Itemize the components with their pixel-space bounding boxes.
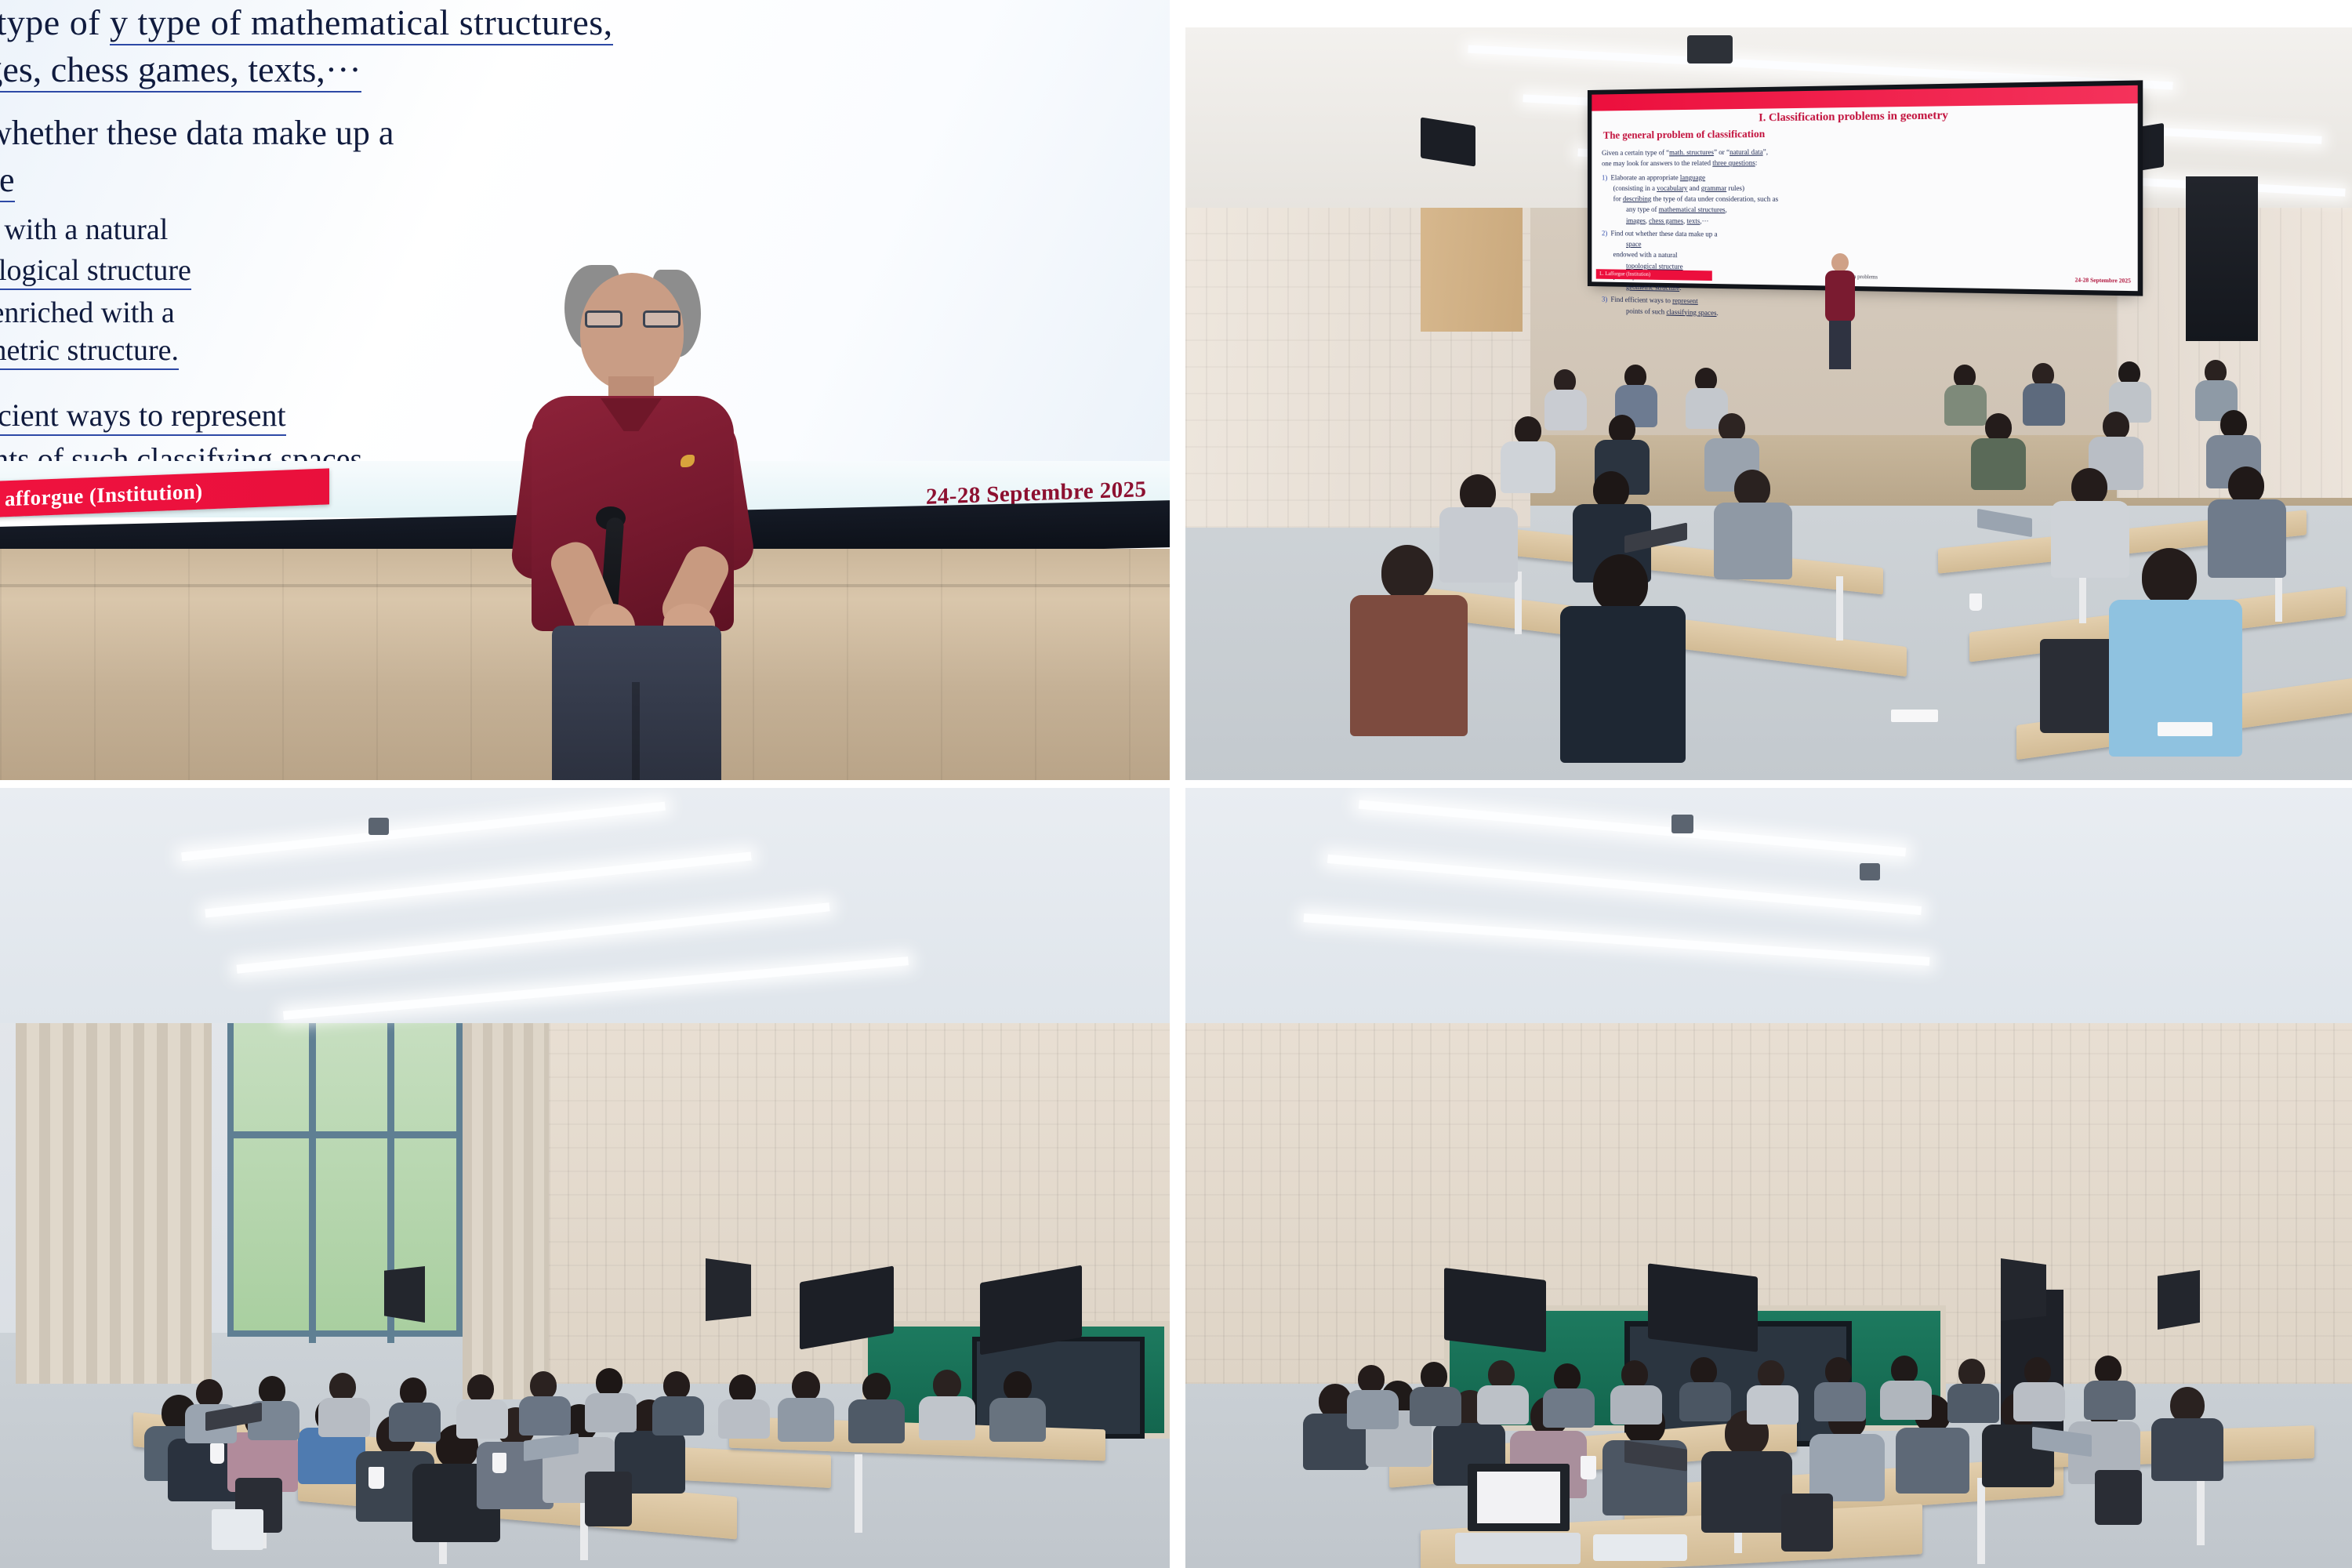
ceiling-light xyxy=(1304,913,1930,966)
sprinkler-icon xyxy=(1860,863,1880,880)
attendee-body xyxy=(989,1398,1046,1442)
ceiling-light xyxy=(237,902,830,973)
attendee-body xyxy=(519,1396,571,1436)
head xyxy=(1831,253,1849,272)
laptop-screen-document xyxy=(1477,1472,1560,1523)
attendee-head xyxy=(1758,1360,1784,1388)
attendee-body xyxy=(1944,385,1987,426)
collage-gutter-horizontal xyxy=(0,780,2352,788)
slide-line-2: ages, chess games, texts,··· xyxy=(0,52,831,88)
attendee-body xyxy=(1714,503,1792,579)
panel-speaker-closeup-with-slide: y type of y type of mathematical structu… xyxy=(0,0,1170,780)
attendee-body xyxy=(1809,1434,1885,1501)
attendee-head xyxy=(1690,1357,1717,1385)
wall-speaker-right xyxy=(2158,1270,2200,1330)
attendee-body xyxy=(652,1396,704,1436)
chair xyxy=(2095,1470,2142,1525)
attendee-head xyxy=(1621,1360,1648,1388)
ceiling xyxy=(0,788,1170,1023)
ceiling-light xyxy=(1327,855,1922,915)
attendee-body xyxy=(778,1398,834,1442)
attendee-head xyxy=(2220,410,2247,438)
attendee-head xyxy=(329,1373,356,1401)
slide-author-banner: L. Lafforgue (Institution) xyxy=(1596,269,1712,281)
attendee-body xyxy=(1544,390,1587,430)
attendee-head xyxy=(196,1379,223,1407)
attendee-head xyxy=(530,1371,557,1399)
cup xyxy=(210,1443,224,1464)
desk-papers xyxy=(1593,1534,1687,1561)
attendee-head xyxy=(2071,468,2107,506)
slide-subtitle: The general problem of classification xyxy=(1603,129,1765,142)
attendee-body xyxy=(2151,1418,2223,1481)
attendee-body xyxy=(585,1393,637,1432)
attendee-body xyxy=(1501,441,1555,493)
torso-polo-shirt xyxy=(1825,270,1855,322)
head xyxy=(580,273,684,390)
window-transom xyxy=(234,1131,469,1138)
attendee-body xyxy=(1701,1451,1792,1533)
attendee-head xyxy=(862,1373,891,1403)
leg-gap xyxy=(632,682,640,780)
attendee-body xyxy=(919,1396,975,1440)
chair xyxy=(1781,1494,1833,1552)
ceiling xyxy=(1185,788,2352,1023)
ceiling-light xyxy=(1359,800,1906,857)
attendee-head xyxy=(2095,1356,2122,1384)
attendee-body xyxy=(318,1398,370,1437)
attendee-body xyxy=(1971,438,2026,490)
attendee-head xyxy=(933,1370,961,1399)
sprinkler-icon xyxy=(1671,815,1693,833)
attendee-body xyxy=(1610,1385,1662,1425)
attendee-head xyxy=(1719,413,1745,441)
attendee-body xyxy=(456,1399,508,1439)
desk-leg xyxy=(1836,576,1843,641)
wall-speaker-left xyxy=(2001,1258,2046,1321)
slide-item-2: 2) Find out whether these data make up a… xyxy=(1602,228,2129,303)
attendee-body xyxy=(1477,1385,1529,1425)
slide-body: Given a certain type of “math. structure… xyxy=(1602,144,2129,328)
attendee-body xyxy=(1560,606,1686,763)
attendee-head xyxy=(1985,413,2012,441)
flat-panel-display-left xyxy=(1421,117,1475,166)
attendee-head xyxy=(467,1374,494,1403)
panel-lecture-hall-from-front-right xyxy=(1185,788,2352,1568)
attendee-body xyxy=(2013,1382,2065,1421)
attendee-head xyxy=(1825,1357,1852,1385)
attendee-body xyxy=(1439,507,1518,583)
attendee-body xyxy=(718,1399,770,1439)
collage-gutter-top xyxy=(1170,0,2352,27)
attendee-body xyxy=(1947,1384,1999,1423)
paper-sheet xyxy=(2158,722,2212,736)
attendee-head xyxy=(1609,415,1635,443)
attendee-head xyxy=(1593,471,1629,509)
desk-leg xyxy=(1977,1478,1985,1564)
slide-line-1: y type of y type of mathematical structu… xyxy=(0,5,831,41)
paper-sheet xyxy=(1891,710,1938,722)
tote-bag xyxy=(212,1509,263,1550)
attendee-head xyxy=(1421,1362,1447,1390)
slide-line-4: ace xyxy=(0,163,831,198)
attendee-head xyxy=(1515,416,1541,445)
cup xyxy=(1581,1456,1596,1479)
attendee-body xyxy=(1347,1390,1399,1429)
attendee-head xyxy=(259,1376,285,1404)
attendee-head xyxy=(1734,470,1770,507)
projector-icon xyxy=(1687,35,1733,64)
eyeglasses-icon xyxy=(585,310,681,328)
attendee-body xyxy=(1350,595,1468,736)
chair xyxy=(585,1472,632,1526)
ceiling-monitor-left xyxy=(1444,1268,1546,1352)
panel-lecture-hall-from-front-left xyxy=(0,788,1170,1568)
attendee-body xyxy=(2208,499,2286,578)
attendee-body xyxy=(1679,1382,1731,1421)
attendee-head xyxy=(1891,1356,1918,1384)
projection-screen: I. Classification problems in geometry T… xyxy=(1592,85,2137,291)
desk-leg xyxy=(855,1454,862,1533)
slide-item-1: 1) Elaborate an appropriate language (co… xyxy=(1602,172,2129,230)
sprinkler-icon xyxy=(368,818,389,835)
attendee-head xyxy=(1488,1360,1515,1388)
attendee-head xyxy=(792,1371,820,1401)
attendee-head xyxy=(2103,412,2129,440)
ceiling-monitor-right xyxy=(1648,1263,1758,1352)
panel-lecture-hall-wide-from-back: I. Classification problems in geometry T… xyxy=(1185,27,2352,780)
photo-collage: y type of y type of mathematical structu… xyxy=(0,0,2352,1568)
keyboard xyxy=(1455,1533,1581,1564)
attendee-body xyxy=(2051,501,2129,578)
equipment-cabinet xyxy=(2186,176,2258,341)
wall-speaker-right xyxy=(706,1258,751,1321)
attendee-head xyxy=(2228,466,2264,504)
slide-line-5: ed with a natural xyxy=(0,215,831,245)
cup xyxy=(1969,593,1982,611)
attendee-head xyxy=(1358,1365,1385,1393)
cup xyxy=(368,1467,384,1489)
attendee-body xyxy=(1814,1382,1866,1421)
attendee-head xyxy=(596,1368,622,1396)
ceiling-light xyxy=(205,851,751,917)
attendee-body xyxy=(1543,1388,1595,1428)
ceiling-light xyxy=(1468,45,2172,89)
slide-line-3: t whether these data make up a xyxy=(0,116,831,151)
attendee-body xyxy=(1747,1385,1798,1425)
ceiling-light xyxy=(283,956,909,1020)
attendee-body xyxy=(1896,1428,1969,1494)
attendee-body xyxy=(1880,1381,1932,1420)
attendee-head xyxy=(1554,1363,1581,1392)
attendee-head xyxy=(400,1377,426,1406)
attendee-body xyxy=(2023,383,2065,426)
attendee-head xyxy=(1381,545,1433,600)
attendee-head xyxy=(663,1371,690,1399)
speaker-figure xyxy=(1822,253,1858,371)
attendee-head xyxy=(2024,1357,2051,1385)
attendee-body xyxy=(389,1403,441,1442)
attendee-head xyxy=(1958,1359,1985,1387)
attendee-body xyxy=(2084,1381,2136,1420)
slide-author-banner: afforgue (Institution) xyxy=(0,468,329,517)
wall-speaker-left xyxy=(384,1266,425,1323)
attendee-body xyxy=(848,1399,905,1443)
cup xyxy=(492,1453,506,1473)
attendee-head xyxy=(1004,1371,1032,1401)
attendee-body xyxy=(1410,1387,1461,1426)
ceiling-light xyxy=(181,802,666,862)
attendee-head xyxy=(1460,474,1496,512)
trousers xyxy=(1829,321,1851,369)
speaker-figure xyxy=(470,259,800,780)
attendee-head xyxy=(1593,554,1648,612)
attendee-head xyxy=(729,1374,756,1403)
attendee-head xyxy=(2142,548,2197,606)
slide-footer-date: 24-28 Septembre 2025 xyxy=(2075,277,2131,284)
